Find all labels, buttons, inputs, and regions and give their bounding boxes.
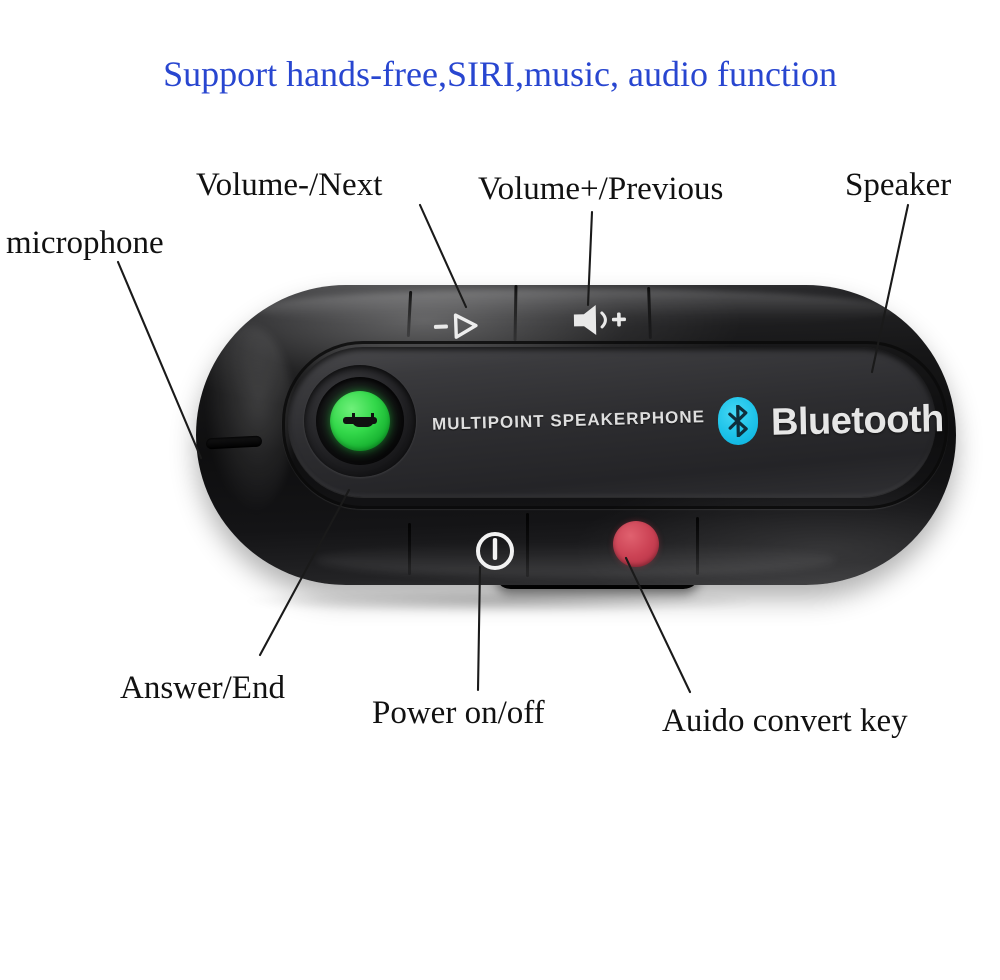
answer-end-button[interactable] [304, 365, 416, 477]
answer-button-led [330, 391, 390, 451]
body-left-highlight [204, 325, 294, 515]
button-seam [696, 517, 699, 575]
answer-button-bezel [316, 377, 404, 465]
label-speaker: Speaker [845, 166, 951, 204]
brand-text: Bluetooth [771, 398, 945, 445]
volume-down-icon[interactable] [431, 308, 490, 349]
label-microphone: microphone [6, 224, 164, 262]
volume-up-icon[interactable] [568, 300, 631, 344]
body-bottom-highlight [316, 543, 836, 577]
label-audio-convert: Auido convert key [662, 702, 908, 740]
label-volume-plus: Volume+/Previous [478, 170, 723, 208]
label-power: Power on/off [372, 694, 545, 732]
label-volume-minus: Volume-/Next [196, 166, 382, 204]
bluetooth-car-speakerphone-device: MULTIPOINT SPEAKERPHONE Bluetooth [196, 285, 956, 603]
model-text: MULTIPOINT SPEAKERPHONE [432, 407, 705, 435]
device-branding: MULTIPOINT SPEAKERPHONE Bluetooth [432, 397, 944, 445]
device-shadow [240, 588, 760, 614]
phone-handset-icon [343, 413, 377, 429]
button-seam [526, 513, 529, 577]
leader-microphone [118, 262, 201, 458]
audio-convert-key-button[interactable] [613, 521, 659, 567]
bluetooth-icon [717, 397, 758, 446]
label-answer-end: Answer/End [120, 669, 285, 707]
page-title: Support hands-free,SIRI,music, audio fun… [0, 52, 1000, 96]
product-annotation-diagram: Support hands-free,SIRI,music, audio fun… [0, 0, 1000, 980]
button-seam [408, 523, 411, 575]
power-icon[interactable] [472, 528, 518, 579]
